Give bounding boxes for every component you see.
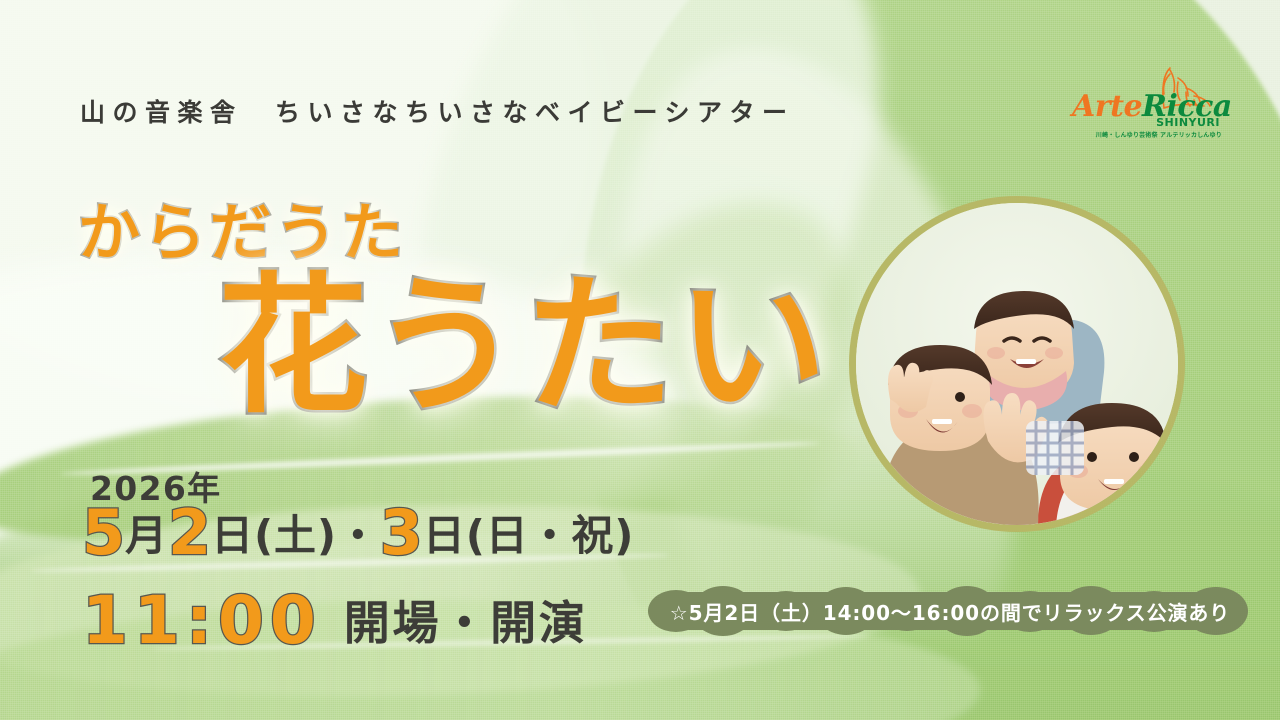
relax-performance-banner: ☆5月2日（土）14:00〜16:00の間でリラックス公演あり: [648, 586, 1252, 636]
time-label: 開場・開演: [344, 596, 588, 650]
logo-arte-text: Arte: [1072, 89, 1142, 124]
day1-number: 2: [168, 496, 211, 569]
event-date: 5月2日(土)・3日(日・祝): [82, 502, 634, 564]
title-secondary: からだうた: [78, 182, 407, 272]
day1-unit: 日(土)・: [211, 511, 380, 560]
page-title: 花うたい: [218, 272, 830, 422]
event-time: 11:00開場・開演: [82, 588, 588, 654]
artericca-logo[interactable]: ArteRicca SHINYURI 川崎・しんゆり芸術祭 アルテリッカしんゆり: [1072, 62, 1224, 148]
day2-unit: 日(日・祝): [423, 511, 634, 560]
photo-image: [856, 203, 1178, 525]
month-number: 5: [82, 496, 125, 569]
logo-japanese-text: 川崎・しんゆり芸術祭 アルテリッカしんゆり: [1096, 130, 1222, 139]
day2-number: 3: [380, 496, 423, 569]
relax-note-text: ☆5月2日（土）14:00〜16:00の間でリラックス公演あり: [648, 586, 1252, 636]
month-unit: 月: [125, 511, 168, 560]
babies-illustration: [856, 203, 1178, 525]
time-value: 11:00: [82, 582, 322, 659]
company-subtitle: 山の音楽舎 ちいさなちいさなベイビーシアター: [80, 93, 795, 129]
logo-shinyuri-text: SHINYURI: [1156, 116, 1220, 129]
poster-canvas: 山の音楽舎 ちいさなちいさなベイビーシアター からだうた 花うたい 2026年 …: [0, 0, 1280, 720]
baby-photo: [849, 196, 1185, 532]
